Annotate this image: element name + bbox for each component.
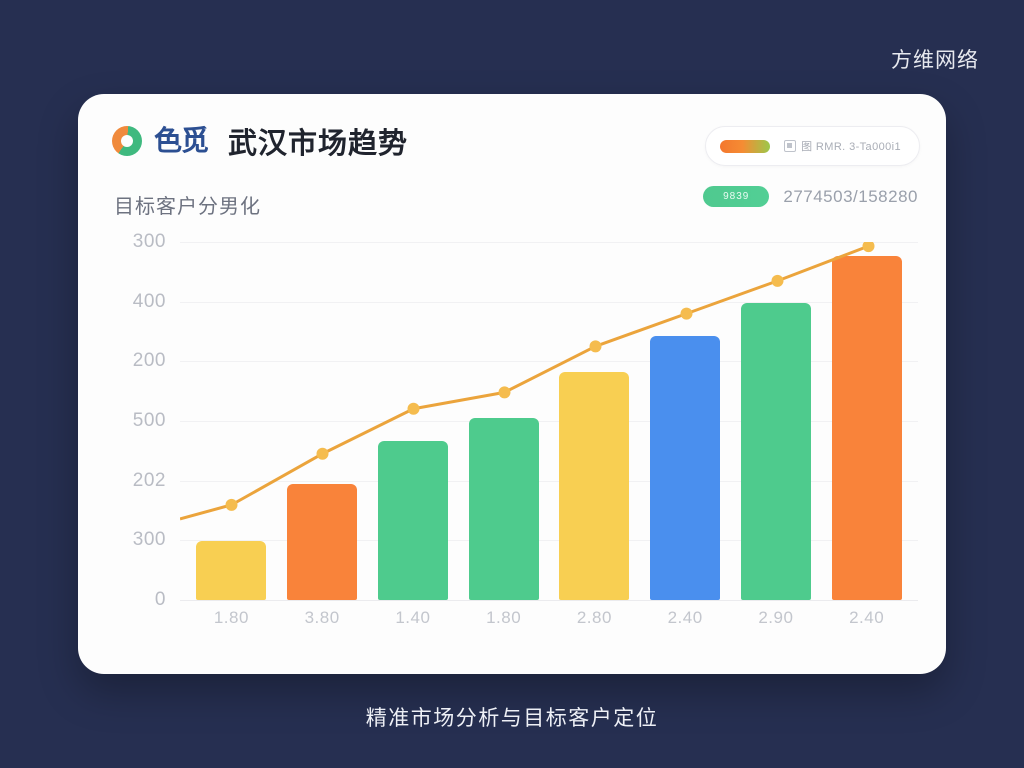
legend-label: 图 RMR. 3-Ta000i1 (801, 138, 901, 154)
stat-row: 9839 2774503/158280 (703, 186, 918, 207)
x-axis-tick: 1.40 (368, 608, 459, 628)
chart-subtitle: 目标客户分男化 (114, 190, 261, 219)
status-badge: 9839 (703, 186, 769, 207)
bar[interactable] (741, 303, 811, 600)
bar-slot (186, 242, 277, 600)
x-axis-tick: 1.80 (458, 608, 549, 628)
bar[interactable] (469, 418, 539, 600)
y-axis-tick: 202 (133, 470, 166, 492)
stat-value: 2774503/158280 (783, 187, 918, 207)
bar[interactable] (559, 372, 629, 600)
bar-slot (549, 242, 640, 600)
brand-wordmark: 色觅 (154, 127, 208, 155)
x-axis-tick: 2.90 (731, 608, 822, 628)
x-axis: 1.803.801.401.802.802.402.902.40 (180, 608, 918, 628)
bar-slot (368, 242, 459, 600)
y-axis-tick: 500 (133, 410, 166, 432)
y-axis-tick: 0 (155, 589, 166, 611)
x-axis-tick: 3.80 (277, 608, 368, 628)
gradient-swatch-icon (720, 140, 770, 153)
bar-slot (458, 242, 549, 600)
bar-slot (821, 242, 912, 600)
legend-pill[interactable]: 图 RMR. 3-Ta000i1 (705, 126, 920, 166)
bar-slot (277, 242, 368, 600)
footer-caption: 精准市场分析与目标客户定位 (0, 702, 1024, 732)
x-axis-tick: 2.40 (821, 608, 912, 628)
y-axis-tick: 200 (133, 350, 166, 372)
brand-donut-icon (112, 126, 142, 156)
bar-slot (731, 242, 822, 600)
bar-series (180, 242, 918, 600)
grid-line (180, 600, 918, 601)
bar[interactable] (287, 484, 357, 600)
page-title: 武汉市场趋势 (228, 120, 408, 162)
bar[interactable] (378, 441, 448, 600)
bar[interactable] (832, 256, 902, 600)
bar[interactable] (196, 541, 266, 600)
y-axis-tick: 300 (133, 529, 166, 551)
table-icon (784, 140, 796, 152)
x-axis-tick: 1.80 (186, 608, 277, 628)
x-axis-tick: 2.80 (549, 608, 640, 628)
chart-plot-area: 3004002005002023000 1.803.801.401.802.80… (114, 242, 918, 640)
chart-card: 色觅 武汉市场趋势 目标客户分男化 图 RMR. 3-Ta000i1 9839 … (78, 94, 946, 674)
legend-label-group: 图 RMR. 3-Ta000i1 (784, 138, 901, 154)
y-axis-tick: 400 (133, 291, 166, 313)
y-axis-tick: 300 (133, 231, 166, 253)
bar[interactable] (650, 336, 720, 600)
x-axis-tick: 2.40 (640, 608, 731, 628)
y-axis: 3004002005002023000 (114, 242, 176, 600)
watermark-brand: 方维网络 (891, 44, 979, 74)
bar-slot (640, 242, 731, 600)
